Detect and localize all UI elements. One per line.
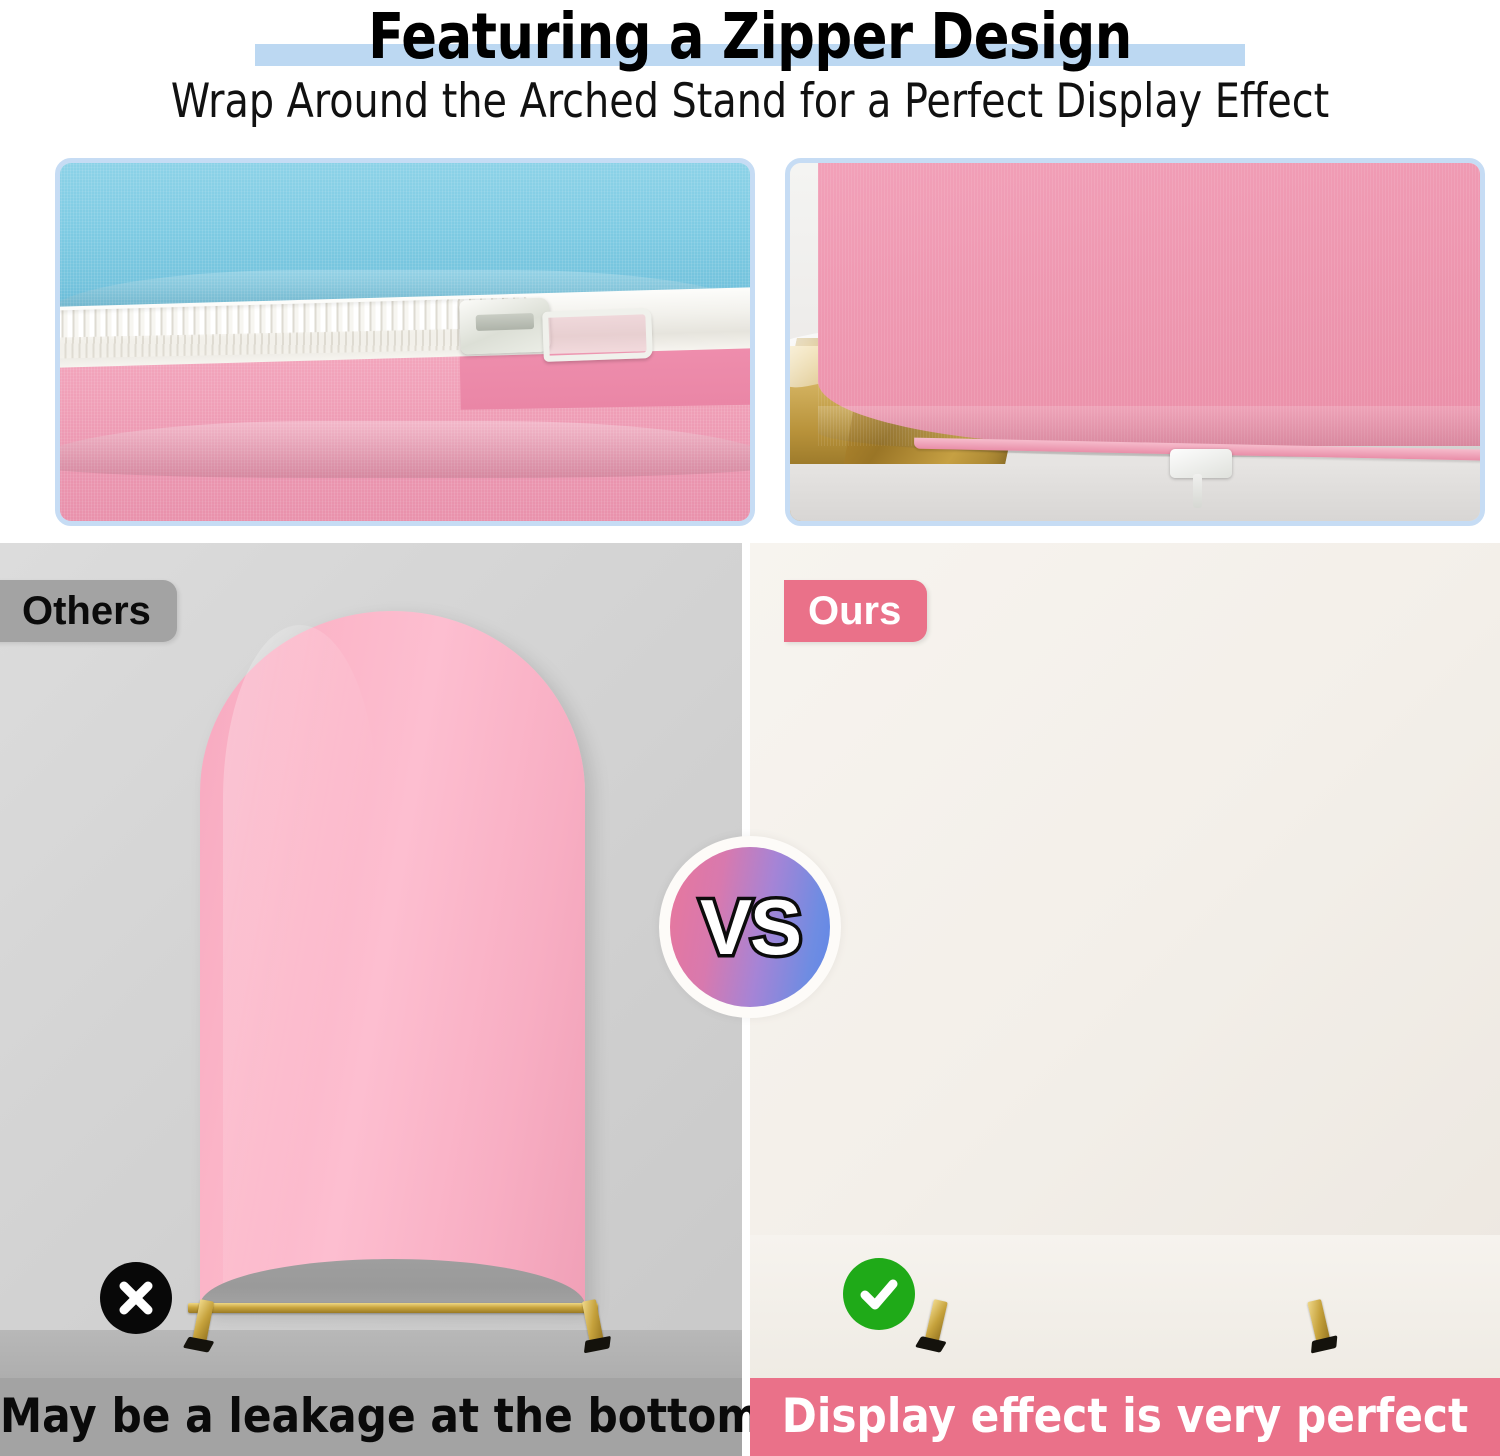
page-subtitle: Wrap Around the Arched Stand for a Perfe… [45, 74, 1455, 130]
photo-row [0, 158, 1500, 536]
caption-row: May be a leakage at the bottom Display e… [0, 1378, 1500, 1456]
ours-badge: Ours [784, 580, 927, 642]
vs-label: VS [700, 888, 800, 966]
stand-corner-photo [785, 158, 1485, 526]
page-title: Featuring a Zipper Design [53, 0, 1448, 72]
vs-badge: VS [659, 836, 841, 1018]
zipper-pull-icon [1170, 449, 1232, 478]
zipper-photo-content [60, 163, 750, 521]
zipper-closeup-photo [55, 158, 755, 526]
pink-fabric-fold [60, 421, 750, 478]
arch-sheen [223, 625, 377, 1297]
title-wrapper: Featuring a Zipper Design [0, 0, 1500, 72]
product-comparison-infographic: Featuring a Zipper Design Wrap Around th… [0, 0, 1500, 1456]
ours-caption: Display effect is very perfect [750, 1378, 1500, 1456]
header: Featuring a Zipper Design Wrap Around th… [0, 0, 1500, 150]
stand-photo-content [790, 163, 1480, 521]
floor-shadow [790, 464, 1480, 521]
others-stand-crossbar [188, 1303, 598, 1313]
others-arch-backdrop [200, 611, 585, 1311]
check-icon [843, 1258, 915, 1330]
x-icon [100, 1262, 172, 1334]
vs-circle: VS [670, 847, 830, 1007]
zipper-pull-tab [542, 308, 652, 361]
others-badge: Others [0, 580, 177, 642]
others-floor [0, 1330, 742, 1378]
others-caption: May be a leakage at the bottom [0, 1378, 742, 1456]
pink-cover-fabric [818, 163, 1480, 446]
zipper-slider [459, 297, 551, 354]
others-pane: Others [0, 543, 742, 1378]
